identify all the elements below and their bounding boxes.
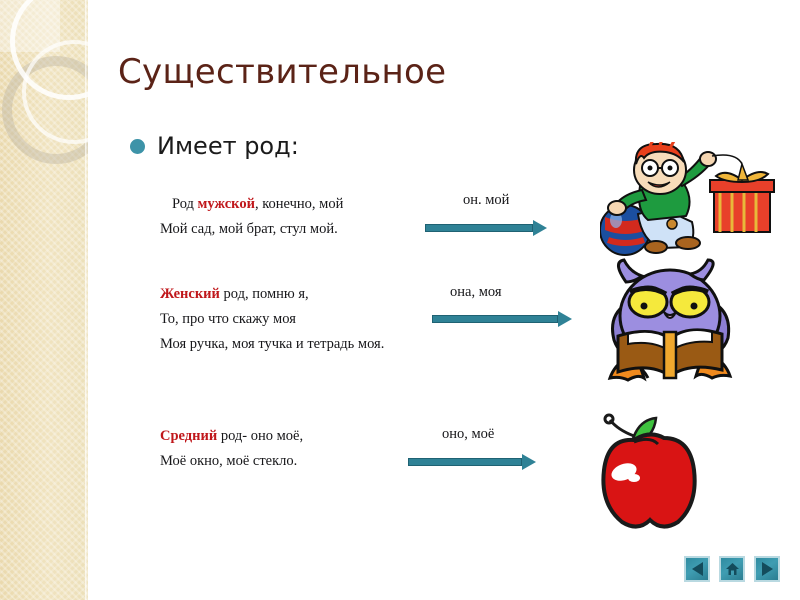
verse-neuter-line2: Моё окно, моё стекло.: [160, 449, 303, 474]
verse-masculine-accent-word: мужской: [198, 196, 255, 212]
verse-masculine-line1-suffix: , конечно, мой: [255, 196, 343, 212]
triangle-left-icon: [692, 562, 703, 576]
band-edge-highlight: [85, 0, 88, 600]
presentation-slide: Существительное Имеет род: Род мужской, …: [0, 0, 800, 600]
bullet-heading-label: Имеет род:: [157, 132, 299, 160]
decorative-side-band: [0, 0, 88, 600]
slide-title: Существительное: [118, 52, 758, 92]
verse-neuter: Средний род- оно моё, Моё окно, моё стек…: [160, 424, 303, 474]
verse-feminine-line3: Моя ручка, моя тучка и тетрадь моя.: [160, 332, 384, 357]
verse-masculine-line1-prefix: Род: [172, 196, 198, 212]
arrow-masculine: [425, 220, 547, 236]
verse-masculine-line1: Род мужской, конечно, мой: [160, 192, 343, 217]
arrow-neuter-head: [522, 454, 536, 470]
boy-with-gift-clipart: [600, 142, 790, 257]
verse-neuter-line1-suffix: род- оно моё,: [217, 428, 303, 444]
bullet-dot-icon: [130, 139, 145, 154]
pronouns-feminine: она, моя: [450, 284, 502, 301]
verse-masculine-line2: Мой сад, мой брат, стул мой.: [160, 217, 343, 242]
verse-neuter-accent-word: Средний: [160, 428, 217, 444]
verse-feminine-accent-word: Женский: [160, 286, 220, 302]
verse-masculine: Род мужской, конечно, мой Мой сад, мой б…: [160, 192, 343, 242]
verse-feminine: Женский род, помню я, То, про что скажу …: [160, 282, 384, 357]
owl-reading-clipart: [604, 258, 784, 383]
verse-feminine-line1: Женский род, помню я,: [160, 282, 384, 307]
arrow-feminine-shaft: [432, 315, 558, 323]
arrow-masculine-shaft: [425, 224, 533, 232]
arrow-neuter: [408, 454, 536, 470]
arrow-feminine: [432, 311, 572, 327]
home-icon: [725, 562, 740, 576]
arrow-neuter-shaft: [408, 458, 522, 466]
verse-neuter-line1: Средний род- оно моё,: [160, 424, 303, 449]
arrow-masculine-head: [533, 220, 547, 236]
verse-feminine-line1-suffix: род, помню я,: [220, 286, 309, 302]
previous-slide-button[interactable]: [684, 556, 710, 582]
slide-navigation[interactable]: [684, 556, 780, 582]
arrow-feminine-head: [558, 311, 572, 327]
bullet-heading-row: Имеет род:: [130, 132, 299, 160]
home-slide-button[interactable]: [719, 556, 745, 582]
pronouns-masculine: он. мой: [463, 192, 509, 209]
pronouns-neuter: оно, моё: [442, 426, 494, 443]
next-slide-button[interactable]: [754, 556, 780, 582]
triangle-right-icon: [762, 562, 773, 576]
red-apple-clipart: [598, 412, 748, 532]
verse-feminine-line2: То, про что скажу моя: [160, 307, 384, 332]
